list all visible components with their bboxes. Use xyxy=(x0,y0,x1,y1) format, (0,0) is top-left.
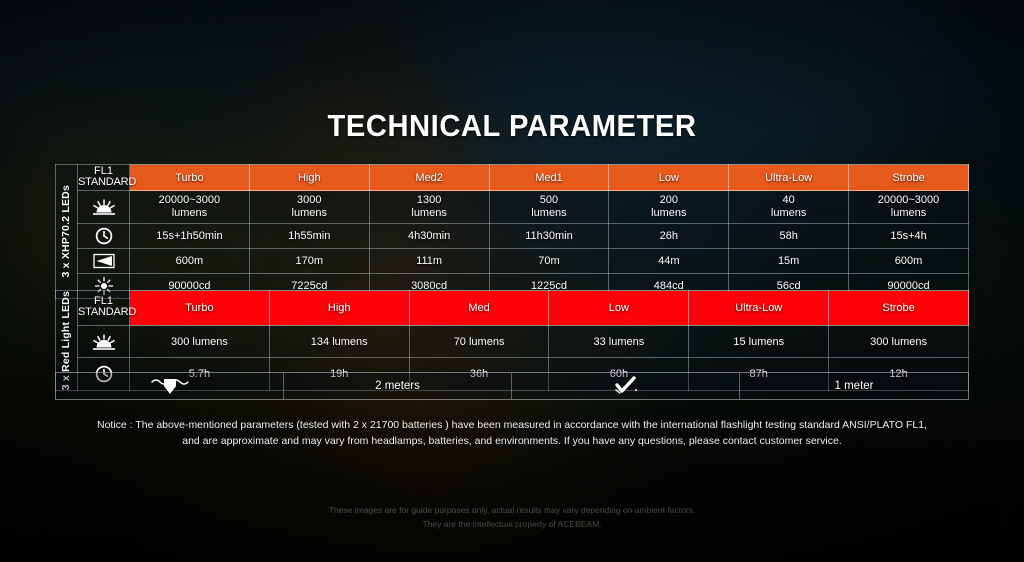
cell-output-high: 3000lumens xyxy=(249,191,369,224)
cell-output-low: 33 lumens xyxy=(549,325,689,358)
cell-output-low: 200lumens xyxy=(609,191,729,224)
mode-header-ultra-low: Ultra-Low xyxy=(729,165,849,191)
product-label-cell: 3 x XHP70.2 LEDs xyxy=(56,165,78,299)
table-row: 15s+1h50min1h55min4h30min11h30min26h58h1… xyxy=(56,224,969,249)
mode-header-ultra-low: Ultra-Low xyxy=(689,291,829,326)
notice-line-1: Notice : The above-mentioned parameters … xyxy=(60,418,964,434)
cell-output-med: 70 lumens xyxy=(409,325,549,358)
resistance-strip: 2 meters 1 meter xyxy=(55,372,969,400)
fl1-line-2: STANDARD xyxy=(78,307,129,318)
cell-output-med1: 500lumens xyxy=(489,191,609,224)
table-row: 20000~3000lumens3000lumens1300lumens500l… xyxy=(56,191,969,224)
mode-header-high: High xyxy=(249,165,369,191)
main-spec-table: 3 x XHP70.2 LEDsFL1STANDARDTurboHighMed2… xyxy=(55,164,969,299)
cell-distance-med2: 111m xyxy=(369,249,489,274)
beam-distance-icon xyxy=(87,251,121,271)
mode-header-turbo: Turbo xyxy=(130,165,250,191)
cell-distance-strobe: 600m xyxy=(849,249,969,274)
clock-icon xyxy=(87,226,121,246)
cell-output-ultra-low: 15 lumens xyxy=(689,325,829,358)
sunburst-icon xyxy=(87,197,121,217)
mode-header-high: High xyxy=(269,291,409,326)
table-row: 300 lumens134 lumens70 lumens33 lumens15… xyxy=(56,325,969,358)
cell-runtime-ultra-low: 58h xyxy=(729,224,849,249)
cell-output-med2: 1300lumens xyxy=(369,191,489,224)
page-title: TECHNICAL PARAMETER xyxy=(31,108,994,144)
cell-output-strobe: 20000~3000lumens xyxy=(849,191,969,224)
cell-runtime-low: 26h xyxy=(609,224,729,249)
table-header-row: 3 x XHP70.2 LEDsFL1STANDARDTurboHighMed2… xyxy=(56,165,969,191)
cell-output-high: 134 lumens xyxy=(269,325,409,358)
cell-runtime-turbo: 15s+1h50min xyxy=(130,224,250,249)
table-header-row: 3 x Red Light LEDsFL1STANDARDTurboHighMe… xyxy=(56,291,969,326)
cell-output-turbo: 300 lumens xyxy=(130,325,270,358)
footer-disclaimer: These images are for guide purposes only… xyxy=(0,503,1024,531)
mode-header-turbo: Turbo xyxy=(130,291,270,326)
fl1-standard-label: FL1STANDARD xyxy=(78,165,130,191)
mode-header-strobe: Strobe xyxy=(849,165,969,191)
mode-header-low: Low xyxy=(549,291,689,326)
cell-distance-med1: 70m xyxy=(489,249,609,274)
impact-resistance-value: 1 meter xyxy=(740,373,968,399)
cell-output-ultra-low: 40lumens xyxy=(729,191,849,224)
fl1-line-2: STANDARD xyxy=(78,177,129,188)
notice-line-2: and are approximate and may vary from he… xyxy=(60,434,964,450)
mode-header-low: Low xyxy=(609,165,729,191)
sunburst-icon-cell xyxy=(78,191,130,224)
water-resistance-icon-cell xyxy=(56,373,284,399)
impact-resistance-icon xyxy=(605,376,647,396)
beam-distance-icon-cell xyxy=(78,249,130,274)
mode-header-med: Med xyxy=(409,291,549,326)
cell-runtime-high: 1h55min xyxy=(249,224,369,249)
cell-runtime-strobe: 15s+4h xyxy=(849,224,969,249)
sunburst-icon xyxy=(87,332,121,352)
impact-resistance-icon-cell xyxy=(512,373,740,399)
water-submersion-icon xyxy=(149,376,191,396)
cell-distance-low: 44m xyxy=(609,249,729,274)
water-resistance-value: 2 meters xyxy=(284,373,512,399)
mode-header-med1: Med1 xyxy=(489,165,609,191)
footer-line-1: These images are for guide purposes only… xyxy=(0,503,1024,517)
sunburst-icon-cell xyxy=(78,325,130,358)
cell-distance-turbo: 600m xyxy=(130,249,250,274)
footer-line-2: They are the intellectual property of AC… xyxy=(0,517,1024,531)
fl1-standard-label: FL1STANDARD xyxy=(78,291,130,326)
cell-output-strobe: 300 lumens xyxy=(829,325,969,358)
mode-header-med2: Med2 xyxy=(369,165,489,191)
product-label: 3 x XHP70.2 LEDs xyxy=(61,185,72,278)
clock-icon-cell xyxy=(78,224,130,249)
notice-text: Notice : The above-mentioned parameters … xyxy=(60,418,964,450)
mode-header-strobe: Strobe xyxy=(829,291,969,326)
table-row: 600m170m111m70m44m15m600m xyxy=(56,249,969,274)
cell-distance-high: 170m xyxy=(249,249,369,274)
cell-distance-ultra-low: 15m xyxy=(729,249,849,274)
cell-runtime-med2: 4h30min xyxy=(369,224,489,249)
cell-output-turbo: 20000~3000lumens xyxy=(130,191,250,224)
cell-runtime-med1: 11h30min xyxy=(489,224,609,249)
